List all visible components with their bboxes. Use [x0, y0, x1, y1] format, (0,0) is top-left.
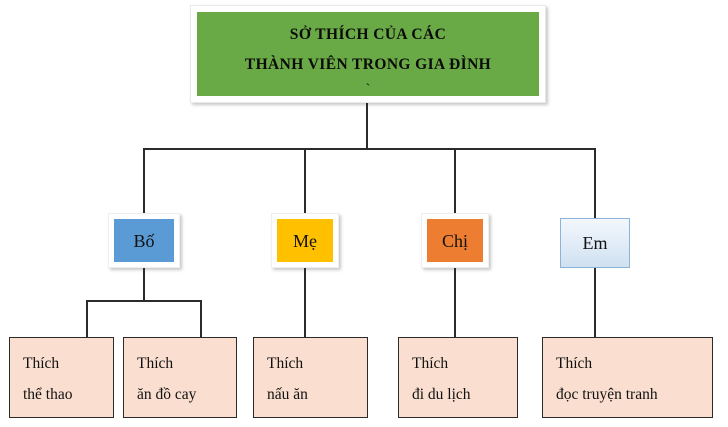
connector-bus-to-bo	[143, 148, 145, 216]
hobby-node-di-du-lich[interactable]: Thích đi du lịch	[398, 337, 518, 418]
member-label-em: Em	[583, 234, 608, 252]
hobby-line-1: Thích	[137, 348, 236, 379]
member-node-chi[interactable]: Chị	[421, 213, 489, 268]
connector-bus-to-em	[594, 148, 596, 218]
hobby-line-2: đọc truyện tranh	[556, 379, 712, 410]
member-node-chi-fill: Chị	[427, 219, 483, 262]
hobby-line-1: Thích	[556, 348, 712, 379]
hobby-line-1: Thích	[23, 348, 113, 379]
member-node-bo-fill: Bố	[114, 219, 174, 262]
connector-bo-stem	[143, 268, 145, 302]
connector-bus-to-me	[304, 148, 306, 216]
hobby-node-an-do-cay[interactable]: Thích ăn đồ cay	[123, 337, 237, 418]
connector-root-stem	[366, 103, 368, 150]
connector-em-to-doc-truyen	[594, 268, 596, 338]
member-node-me-fill: Mẹ	[277, 219, 333, 262]
member-node-bo[interactable]: Bố	[108, 213, 180, 268]
hobby-line-1: Thích	[267, 348, 367, 379]
connector-bo-to-an-do-cay	[200, 300, 202, 338]
hobby-line-2: ăn đồ cay	[137, 379, 236, 410]
hobby-line-2: thể thao	[23, 379, 113, 410]
connector-bo-bus	[86, 300, 202, 302]
connector-bus-to-chi	[454, 148, 456, 216]
root-node[interactable]: SỞ THÍCH CỦA CÁC THÀNH VIÊN TRONG GIA ĐÌ…	[197, 12, 539, 96]
diagram-canvas: SỞ THÍCH CỦA CÁC THÀNH VIÊN TRONG GIA ĐÌ…	[0, 0, 728, 427]
root-title-line-2: THÀNH VIÊN TRONG GIA ĐÌNH	[245, 50, 491, 80]
connector-chi-to-di-du-lich	[454, 268, 456, 338]
hobby-node-nau-an[interactable]: Thích nấu ăn	[253, 337, 368, 418]
hobby-node-doc-truyen-tranh[interactable]: Thích đọc truyện tranh	[542, 337, 713, 418]
member-node-em[interactable]: Em	[560, 218, 630, 268]
connector-main-bus	[143, 148, 596, 150]
hobby-line-2: nấu ăn	[267, 379, 367, 410]
connector-bo-to-the-thao	[86, 300, 88, 338]
connector-me-to-nau-an	[304, 268, 306, 338]
root-node-frame[interactable]: SỞ THÍCH CỦA CÁC THÀNH VIÊN TRONG GIA ĐÌ…	[190, 5, 546, 103]
member-label-me: Mẹ	[293, 232, 317, 250]
root-title-line-1: SỞ THÍCH CỦA CÁC	[290, 20, 446, 50]
hobby-node-the-thao[interactable]: Thích thể thao	[9, 337, 114, 418]
member-label-chi: Chị	[442, 232, 468, 250]
member-node-me[interactable]: Mẹ	[271, 213, 339, 268]
root-stray-mark: `	[366, 84, 371, 96]
hobby-line-1: Thích	[412, 348, 517, 379]
hobby-line-2: đi du lịch	[412, 379, 517, 410]
member-label-bo: Bố	[133, 232, 154, 250]
